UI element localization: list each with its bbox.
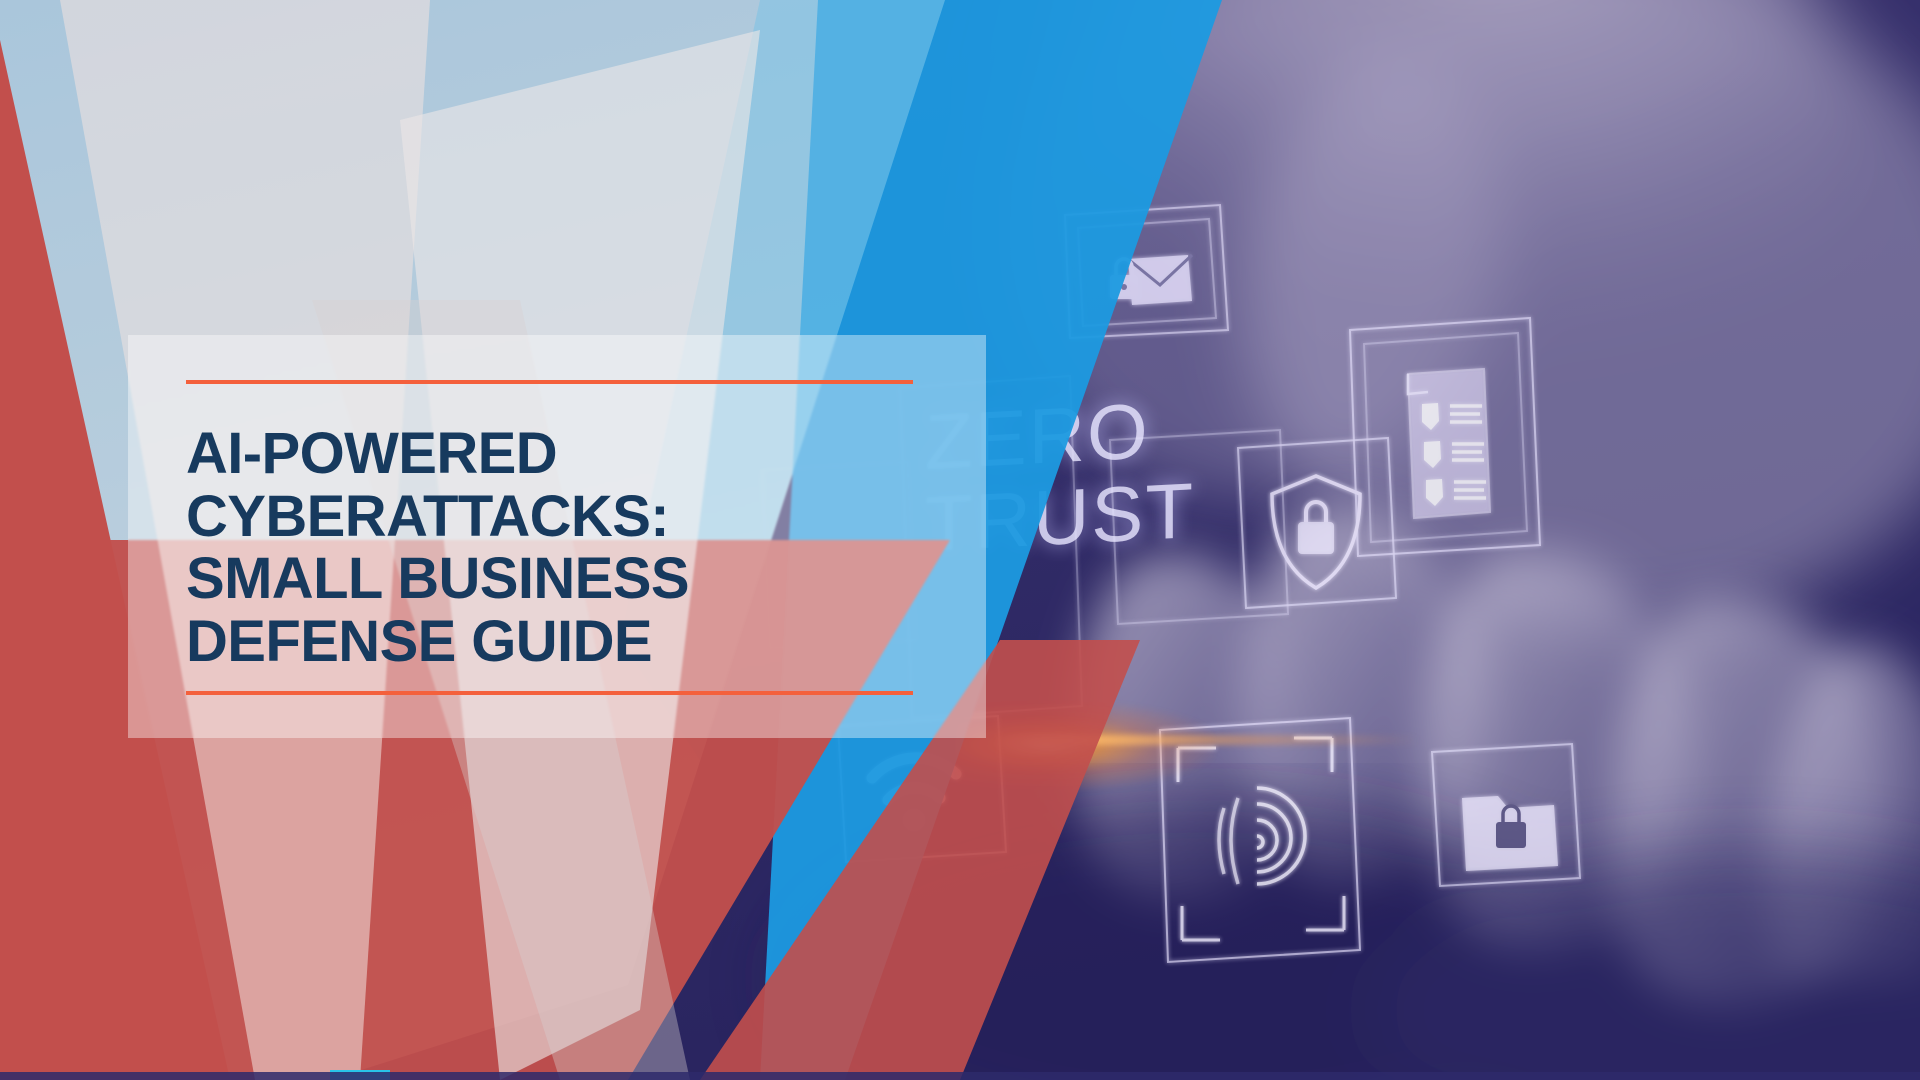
- title-card: AI-POWERED CYBERATTACKS: SMALL BUSINESS …: [128, 335, 986, 738]
- hero-banner: ZERO TRUST: [0, 0, 1920, 1080]
- page-title: AI-POWERED CYBERATTACKS: SMALL BUSINESS …: [186, 423, 946, 674]
- title-divider-bottom: [186, 691, 913, 695]
- shape-purple-baseline: [0, 1072, 1920, 1080]
- title-divider-top: [186, 380, 913, 384]
